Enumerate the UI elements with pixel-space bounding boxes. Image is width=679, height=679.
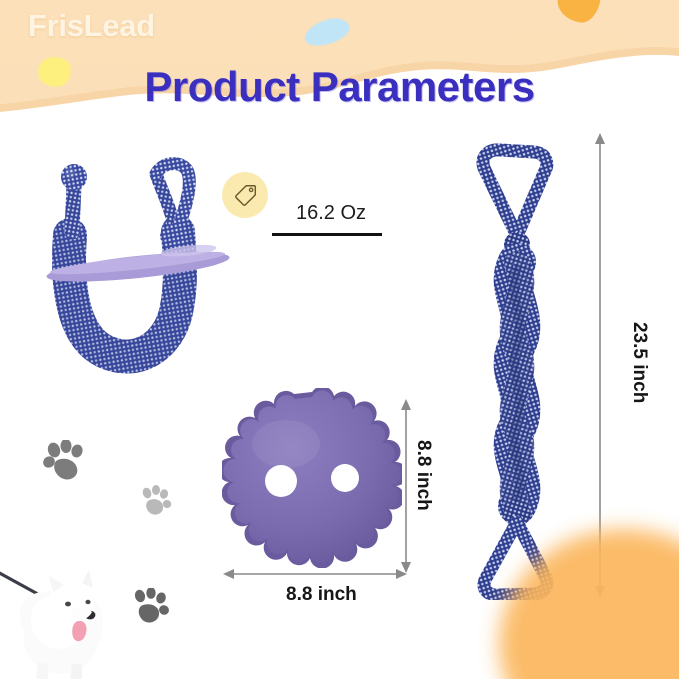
paw-print-large-icon: [42, 440, 88, 489]
weight-value: 16.2 Oz: [275, 202, 387, 225]
product-parameters-infographic: FrisLead Product Parameters 16.2 Oz: [0, 0, 679, 679]
disc-hole-right: [331, 464, 359, 492]
dimension-label-tug-height: 23.5 inch: [628, 322, 650, 403]
dimension-label-disc-width: 8.8 inch: [286, 584, 357, 606]
product-rope-u-toy: [40, 140, 240, 395]
decor-blob-blue: [302, 15, 352, 49]
product-scalloped-disc: [222, 388, 402, 573]
paw-print-small-icon: [138, 485, 172, 522]
dog-photo: [0, 552, 194, 679]
brand-logo: FrisLead: [28, 8, 155, 44]
decor-blob-orange: [554, 0, 603, 25]
page-title: Product Parameters: [0, 63, 679, 111]
disc-hole-left: [265, 465, 297, 497]
dimension-label-disc-height: 8.8 inch: [412, 440, 434, 511]
product-rope-tug-toy: [462, 140, 572, 605]
weight-underline: [272, 233, 382, 236]
